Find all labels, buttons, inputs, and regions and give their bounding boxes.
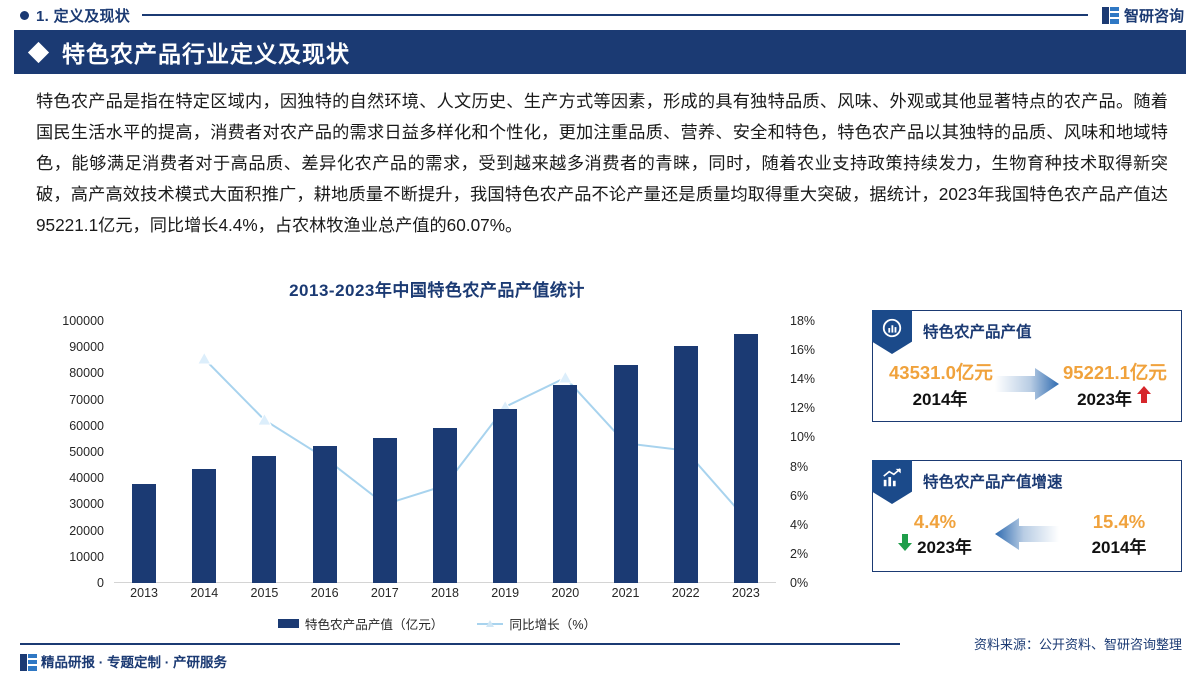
chart-container: 2013-2023年中国特色农产品产值统计 010000200003000040… [26, 276, 848, 644]
y-tick-label: 0 [97, 576, 104, 590]
x-tick-label: 2019 [491, 586, 519, 600]
kpi-card-title: 特色农产品产值增速 [923, 470, 1063, 492]
y-tick-label: 50000 [69, 445, 104, 459]
x-tick-label: 2018 [431, 586, 459, 600]
chart-bar [433, 428, 457, 583]
chart-plot-area [114, 321, 776, 583]
chart-bar [553, 385, 577, 583]
y2-tick-label: 8% [790, 460, 808, 474]
body-paragraph: 特色农产品是指在特定区域内，因独特的自然环境、人文历史、生产方式等因素，形成的具… [36, 86, 1168, 241]
kpi-card-body: 43531.0亿元 2014年 [873, 351, 1181, 415]
arrow-right-icon [991, 364, 1063, 404]
legend-item-line: 同比增长（%） [477, 614, 596, 633]
y-tick-label: 100000 [62, 314, 104, 328]
chart-bar [674, 346, 698, 583]
chart-bar [734, 334, 758, 583]
chart-bar [614, 365, 638, 584]
slide-page: 1. 定义及现状 智研咨询 特色农产品行业定义及现状 特色农产品是指在特定区域内… [0, 0, 1200, 673]
legend-label-bar: 特色农产品产值（亿元） [305, 614, 444, 633]
footer-tagline-group: 精品研报 · 专题定制 · 产研服务 [20, 651, 227, 671]
y2-tick-label: 4% [790, 518, 808, 532]
kpi-right-year-label: 2023年 [1077, 385, 1132, 410]
y2-tick-label: 18% [790, 314, 815, 328]
diamond-icon [28, 41, 49, 62]
kpi-right-group: 15.4% 2014年 [1073, 511, 1165, 558]
kpi-right-year-label: 2014年 [1092, 533, 1147, 558]
x-tick-label: 2020 [551, 586, 579, 600]
kpi-left-value: 43531.0亿元 [889, 362, 993, 383]
source-note: 资料来源：公开资料、智研咨询整理 [974, 634, 1182, 653]
trend-down-icon [898, 534, 912, 556]
kpi-card-body: 4.4% 2023年 [873, 501, 1181, 565]
x-tick-label: 2017 [371, 586, 399, 600]
chart-x-axis-labels: 2013201420152016201720182019202020212022… [114, 586, 776, 606]
kpi-right-year: 2023年 [1063, 385, 1165, 410]
chart-y-axis-labels: 0100002000030000400005000060000700008000… [26, 316, 110, 588]
footer-divider [20, 643, 900, 645]
brand-mark-icon [20, 654, 35, 669]
chart-bar [493, 409, 517, 583]
kpi-card-header: 特色农产品产值 [873, 311, 1181, 351]
y-tick-label: 40000 [69, 471, 104, 485]
x-tick-label: 2013 [130, 586, 158, 600]
y-tick-label: 90000 [69, 340, 104, 354]
line-marker [559, 371, 572, 383]
y-tick-label: 10000 [69, 550, 104, 564]
y2-tick-label: 0% [790, 576, 808, 590]
legend-swatch-bar-icon [278, 619, 299, 628]
y2-tick-label: 2% [790, 547, 808, 561]
y-tick-label: 20000 [69, 524, 104, 538]
y2-tick-label: 6% [790, 489, 808, 503]
brand-mark-icon [1102, 7, 1119, 24]
legend-swatch-line-icon [477, 619, 503, 629]
top-header-bar: 1. 定义及现状 智研咨询 [0, 0, 1200, 30]
header-divider-line [142, 14, 1088, 16]
section-title: 1. 定义及现状 [36, 5, 130, 26]
kpi-card-title: 特色农产品产值 [923, 320, 1032, 342]
x-tick-label: 2015 [251, 586, 279, 600]
y-tick-label: 80000 [69, 366, 104, 380]
brand-logo: 智研咨询 [1102, 5, 1184, 26]
section-banner: 特色农产品行业定义及现状 [14, 30, 1186, 74]
x-tick-label: 2014 [190, 586, 218, 600]
trend-up-icon [1137, 386, 1151, 408]
kpi-left-value: 4.4% [914, 511, 956, 532]
kpi-right-value: 15.4% [1093, 511, 1145, 532]
x-tick-label: 2023 [732, 586, 760, 600]
y-tick-label: 60000 [69, 419, 104, 433]
y-tick-label: 70000 [69, 393, 104, 407]
kpi-right-group: 95221.1亿元 2023年 [1063, 359, 1165, 410]
y-tick-label: 30000 [69, 497, 104, 511]
chart-bar [373, 438, 397, 583]
gauge-badge-icon [872, 310, 912, 354]
growth-chart-badge-icon [872, 460, 912, 504]
y2-tick-label: 16% [790, 343, 815, 357]
chart-bar [252, 456, 276, 583]
y2-tick-label: 14% [790, 372, 815, 386]
chart-title: 2013-2023年中国特色农产品产值统计 [26, 276, 848, 301]
kpi-left-year: 2014年 [889, 385, 991, 410]
kpi-right-year: 2014年 [1073, 533, 1165, 558]
y2-tick-label: 10% [790, 430, 815, 444]
legend-label-line: 同比增长（%） [509, 614, 596, 633]
chart-bar [192, 469, 216, 583]
chart-bar [132, 484, 156, 583]
line-marker [198, 352, 211, 364]
y2-tick-label: 12% [790, 401, 815, 415]
bullet-dot-icon [20, 11, 29, 20]
x-tick-label: 2022 [672, 586, 700, 600]
kpi-left-year-label: 2023年 [917, 533, 972, 558]
footer-tagline: 精品研报 · 专题定制 · 产研服务 [41, 651, 227, 671]
legend-item-bar: 特色农产品产值（亿元） [278, 614, 444, 633]
kpi-right-value: 95221.1亿元 [1063, 362, 1167, 383]
kpi-card-header: 特色农产品产值增速 [873, 461, 1181, 501]
kpi-left-group: 43531.0亿元 2014年 [889, 359, 991, 410]
chart-y2-axis-labels: 0%2%4%6%8%10%12%14%16%18% [784, 316, 846, 588]
banner-title: 特色农产品行业定义及现状 [62, 35, 350, 69]
kpi-card-output-value: 特色农产品产值 43531.0亿元 2014年 [872, 310, 1182, 422]
kpi-left-group: 4.4% 2023年 [889, 511, 981, 558]
kpi-card-growth-rate: 特色农产品产值增速 4.4% 2023年 [872, 460, 1182, 572]
line-path [204, 359, 746, 519]
brand-name: 智研咨询 [1124, 5, 1184, 26]
x-tick-label: 2016 [311, 586, 339, 600]
kpi-left-year: 2023年 [889, 533, 981, 558]
chart-bar [313, 446, 337, 583]
arrow-left-icon [991, 514, 1063, 554]
chart-legend: 特色农产品产值（亿元） 同比增长（%） [26, 614, 848, 633]
kpi-left-year-label: 2014年 [913, 385, 968, 410]
x-tick-label: 2021 [612, 586, 640, 600]
